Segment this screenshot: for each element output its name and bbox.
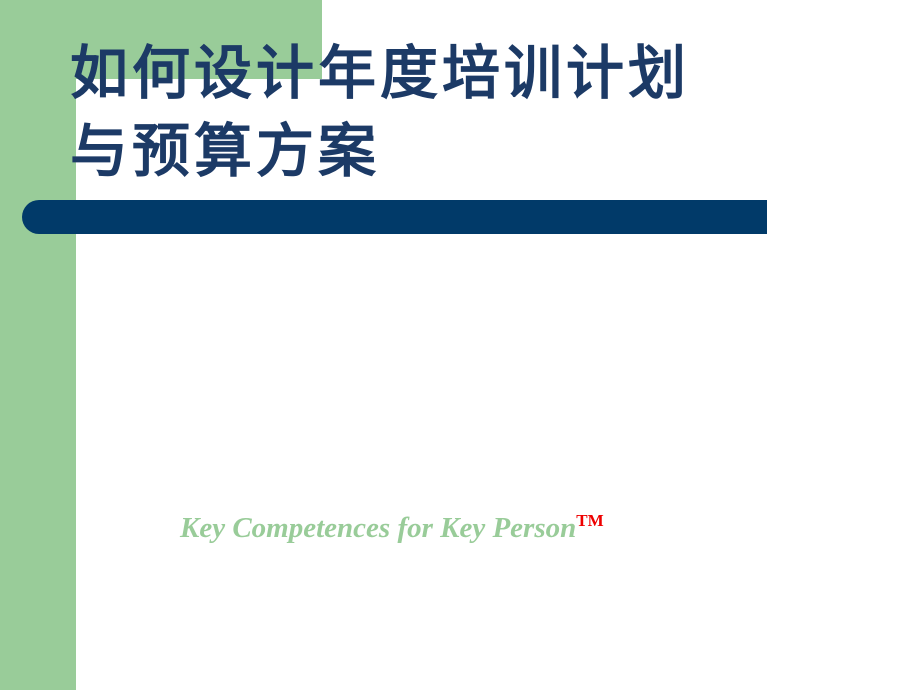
navy-divider-bar (22, 200, 767, 234)
subtitle-label: Key Competences for Key Person (180, 512, 576, 544)
slide-canvas: 如何设计年度培训计划 与预算方案 Key Competences for Key… (0, 0, 920, 690)
page-title: 如何设计年度培训计划 与预算方案 (70, 34, 870, 190)
green-left-bar-decoration (0, 0, 76, 690)
title-line-2: 与预算方案 (70, 112, 870, 190)
title-line-1: 如何设计年度培训计划 (70, 34, 870, 112)
subtitle-line: Key Competences for Key PersonTM (180, 503, 820, 546)
trademark-mark: TM (576, 511, 603, 530)
subtitle: Key Competences for Key PersonTM (180, 503, 820, 546)
